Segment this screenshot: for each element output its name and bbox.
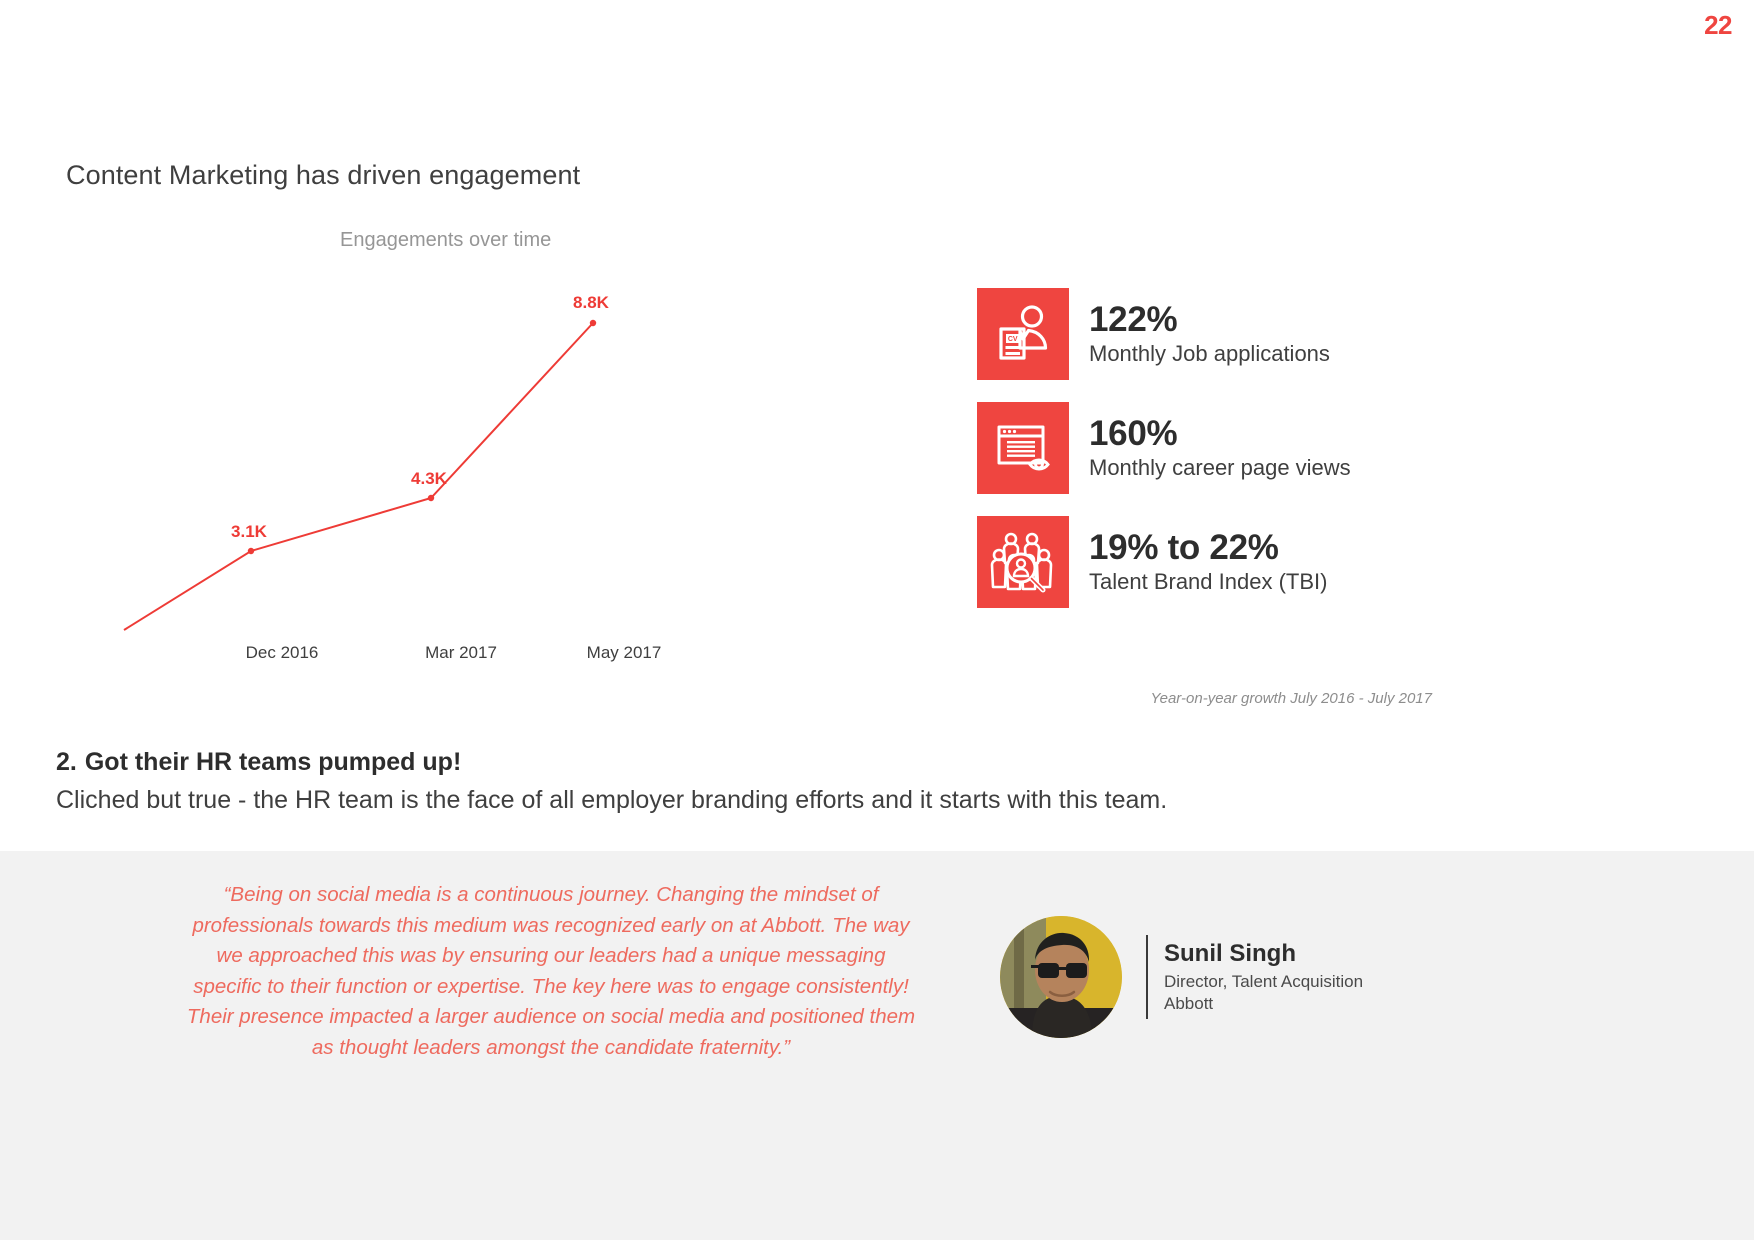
stat-label: Monthly Job applications: [1089, 341, 1330, 367]
stat-value: 160%: [1089, 414, 1351, 453]
author-role: Director, Talent Acquisition: [1164, 971, 1363, 993]
chart-plot-area: 3.1K 4.3K 8.8K: [66, 260, 856, 640]
people-magnifier-icon: [977, 516, 1069, 608]
stat-value: 19% to 22%: [1089, 528, 1327, 567]
author-divider: [1146, 935, 1148, 1019]
stat-text-talent-brand-index: 19% to 22% Talent Brand Index (TBI): [1069, 528, 1327, 596]
chart-point-label-1: 3.1K: [231, 522, 267, 542]
quote-text: “Being on social media is a continuous j…: [186, 880, 916, 1063]
chart-x-tick-mar-2017: Mar 2017: [425, 643, 497, 663]
chart-line-series: [124, 323, 593, 630]
stat-label: Monthly career page views: [1089, 455, 1351, 481]
body-heading: 2.Got their HR teams pumped up!: [56, 748, 461, 777]
page-title: Content Marketing has driven engagement: [66, 160, 580, 191]
engagements-chart: Engagements over time 3.1K 4.3K 8.8K Dec…: [66, 220, 856, 680]
chart-point-marker: [590, 320, 596, 326]
author-company: Abbott: [1164, 993, 1363, 1015]
quote-author: Sunil Singh Director, Talent Acquisition…: [1000, 916, 1363, 1038]
svg-text:CV: CV: [1008, 336, 1018, 343]
stat-label: Talent Brand Index (TBI): [1089, 569, 1327, 595]
chart-x-tick-may-2017: May 2017: [587, 643, 662, 663]
author-info: Sunil Singh Director, Talent Acquisition…: [1164, 939, 1363, 1015]
body-heading-number: 2.: [56, 748, 77, 776]
stat-item-career-page-views: 160% Monthly career page views: [977, 402, 1497, 494]
body-paragraph: Cliched but true - the HR team is the fa…: [56, 786, 1167, 815]
avatar: [1000, 916, 1122, 1038]
body-heading-text: Got their HR teams pumped up!: [85, 748, 461, 776]
chart-point-label-2: 4.3K: [411, 469, 447, 489]
page-number: 22: [1704, 10, 1732, 41]
chart-point-label-3: 8.8K: [573, 293, 609, 313]
stat-item-job-applications: CV 122% Monthly Job applications: [977, 288, 1497, 380]
stat-value: 122%: [1089, 300, 1330, 339]
cv-applicant-icon: CV: [977, 288, 1069, 380]
author-name: Sunil Singh: [1164, 939, 1363, 969]
chart-x-tick-dec-2016: Dec 2016: [246, 643, 319, 663]
stats-footnote: Year-on-year growth July 2016 - July 201…: [977, 690, 1432, 707]
chart-point-marker: [428, 495, 434, 501]
chart-title: Engagements over time: [340, 229, 551, 252]
stat-item-talent-brand-index: 19% to 22% Talent Brand Index (TBI): [977, 516, 1497, 608]
stat-text-job-applications: 122% Monthly Job applications: [1069, 300, 1330, 368]
stats-list: CV 122% Monthly Job applications: [977, 288, 1497, 630]
browser-page-views-icon: [977, 402, 1069, 494]
stat-text-career-page-views: 160% Monthly career page views: [1069, 414, 1351, 482]
chart-x-tick-labels: Dec 2016 Mar 2017 May 2017: [66, 643, 856, 673]
chart-point-marker: [248, 548, 254, 554]
